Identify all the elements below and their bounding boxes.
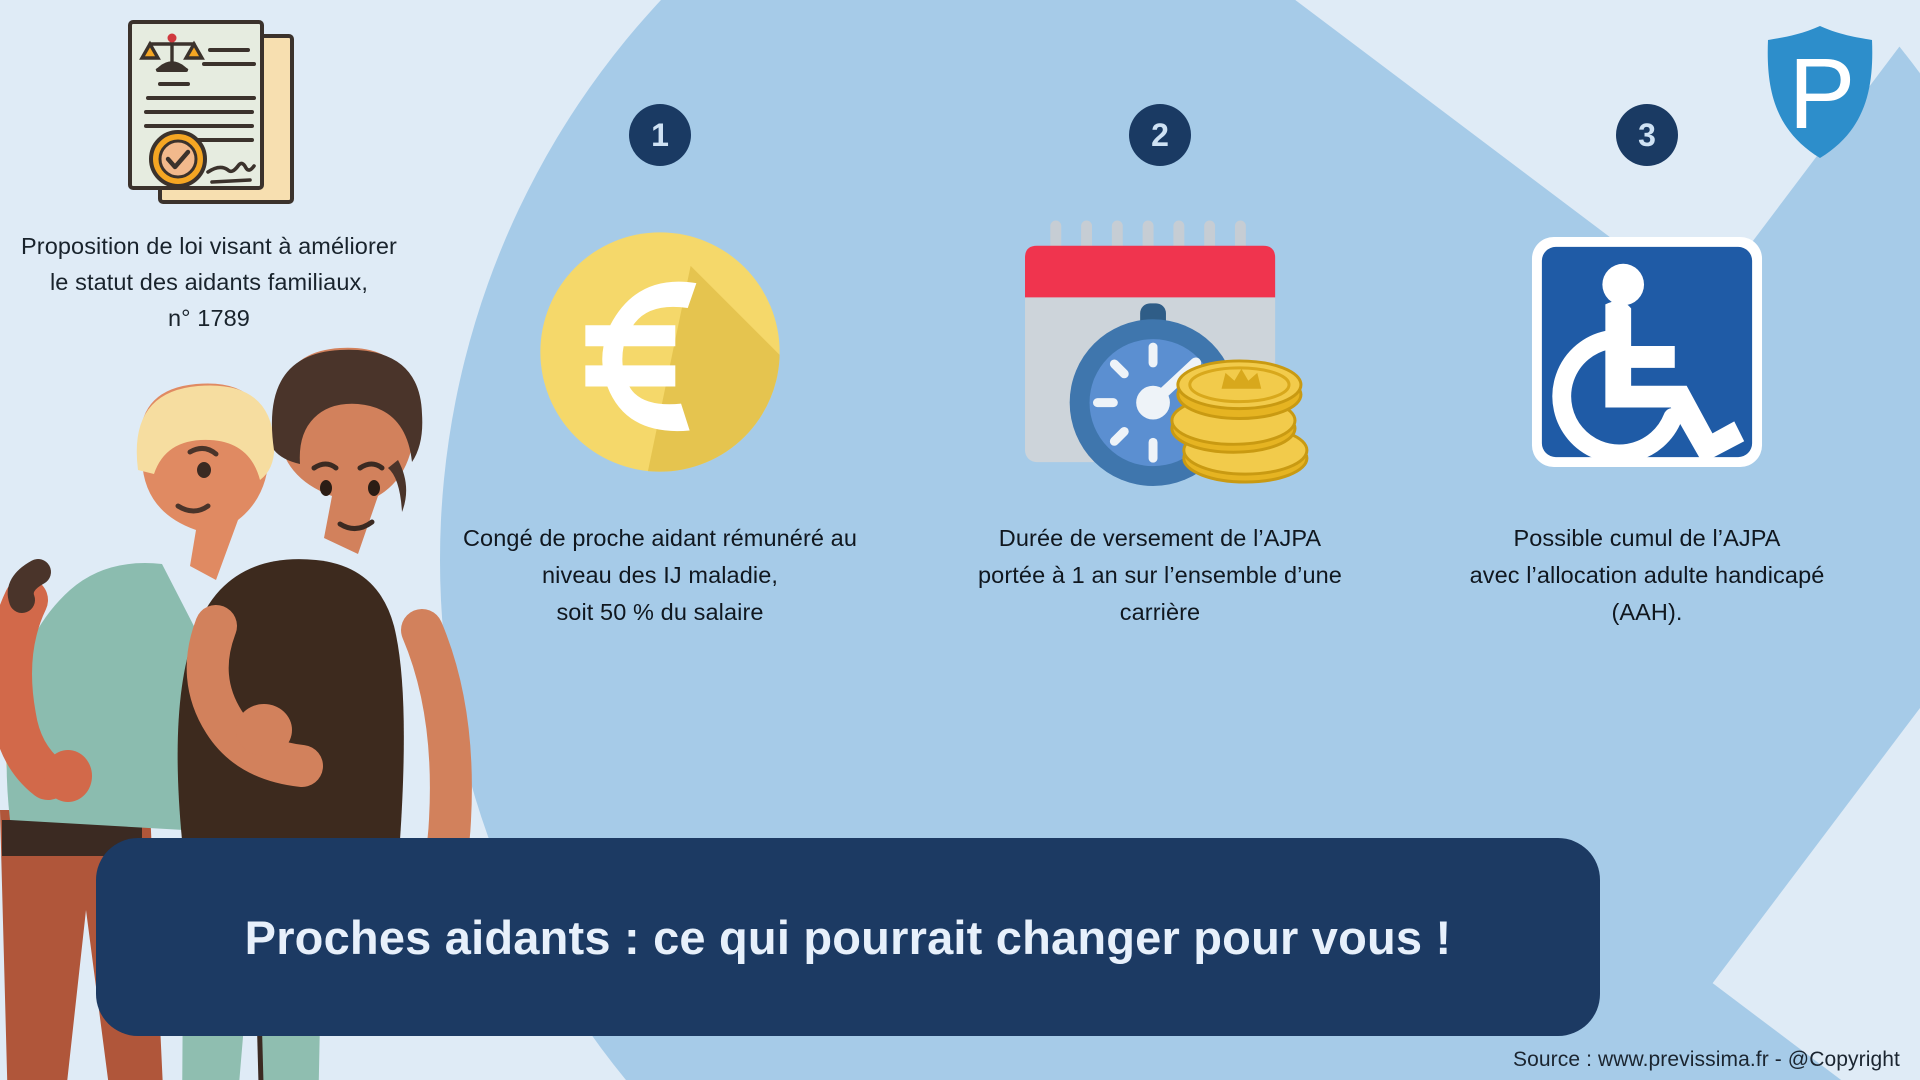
column-2-text: Durée de versement de l’AJPA portée à 1 … bbox=[925, 520, 1395, 631]
infographic-canvas: Proposition de loi visant à améliorer le… bbox=[0, 0, 1920, 1080]
column-3-text-line-1: Possible cumul de l’AJPA bbox=[1412, 520, 1882, 557]
column-3: 3 Possible cumul de l’AJPA avec l’alloca… bbox=[1412, 104, 1882, 631]
wheelchair-accessibility-icon bbox=[1412, 202, 1882, 502]
left-caption-line-1: Proposition de loi visant à améliorer bbox=[4, 228, 414, 264]
column-2: 2 bbox=[925, 104, 1395, 631]
law-document-icon bbox=[122, 14, 302, 210]
step-badge-1: 1 bbox=[629, 104, 691, 166]
column-1-text-line-1: Congé de proche aidant rémunéré au bbox=[425, 520, 895, 557]
column-1-text-line-3: soit 50 % du salaire bbox=[425, 594, 895, 631]
column-3-text-line-2: avec l’allocation adulte handicapé bbox=[1412, 557, 1882, 594]
calendar-clock-coins-icon bbox=[925, 202, 1395, 502]
column-2-text-line-1: Durée de versement de l’AJPA bbox=[925, 520, 1395, 557]
step-badge-2: 2 bbox=[1129, 104, 1191, 166]
column-1-text: Congé de proche aidant rémunéré au nivea… bbox=[425, 520, 895, 631]
column-1-text-line-2: niveau des IJ maladie, bbox=[425, 557, 895, 594]
euro-coin-icon bbox=[425, 202, 895, 502]
source-text: Source : www.previssima.fr - @Copyright bbox=[1513, 1048, 1900, 1072]
left-caption-line-2: le statut des aidants familiaux, bbox=[4, 264, 414, 300]
column-3-text-line-3: (AAH). bbox=[1412, 594, 1882, 631]
column-2-text-line-3: carrière bbox=[925, 594, 1395, 631]
column-2-text-line-2: portée à 1 an sur l’ensemble d’une bbox=[925, 557, 1395, 594]
headline-title: Proches aidants : ce qui pourrait change… bbox=[245, 910, 1452, 965]
column-1: 1 Congé de proche aidant rémunéré au niv… bbox=[425, 104, 895, 631]
step-badge-3: 3 bbox=[1616, 104, 1678, 166]
column-3-text: Possible cumul de l’AJPA avec l’allocati… bbox=[1412, 520, 1882, 631]
headline-banner: Proches aidants : ce qui pourrait change… bbox=[96, 838, 1600, 1036]
